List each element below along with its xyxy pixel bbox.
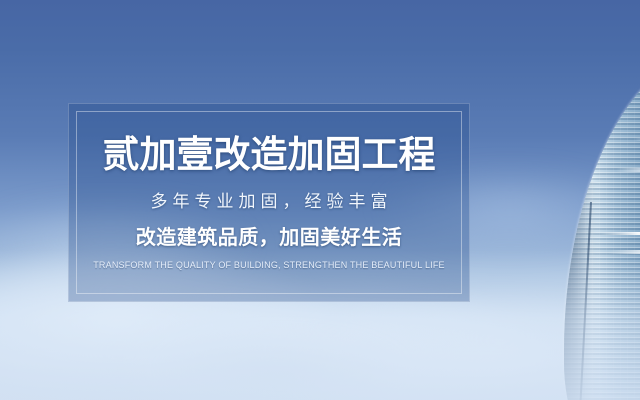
banner-tagline: 改造建筑品质，加固美好生活 — [136, 226, 403, 250]
tower-body — [564, 52, 640, 400]
glass-highlight — [608, 250, 640, 254]
skyscraper-building — [502, 0, 640, 400]
glass-highlight — [616, 168, 640, 172]
banner-english-tagline: TRANSFORM THE QUALITY OF BUILDING, STREN… — [93, 259, 445, 271]
glass-highlight — [600, 232, 640, 235]
glass-highlight — [634, 138, 640, 141]
headline-panel: 贰加壹改造加固工程 多年专业加固，经验丰富 改造建筑品质，加固美好生活 TRAN… — [68, 103, 470, 302]
banner-image: 贰加壹改造加固工程 多年专业加固，经验丰富 改造建筑品质，加固美好生活 TRAN… — [0, 0, 640, 400]
banner-subline: 多年专业加固，经验丰富 — [146, 192, 393, 212]
banner-headline: 贰加壹改造加固工程 — [103, 134, 436, 175]
panel-content: 贰加壹改造加固工程 多年专业加固，经验丰富 改造建筑品质，加固美好生活 TRAN… — [68, 103, 470, 302]
